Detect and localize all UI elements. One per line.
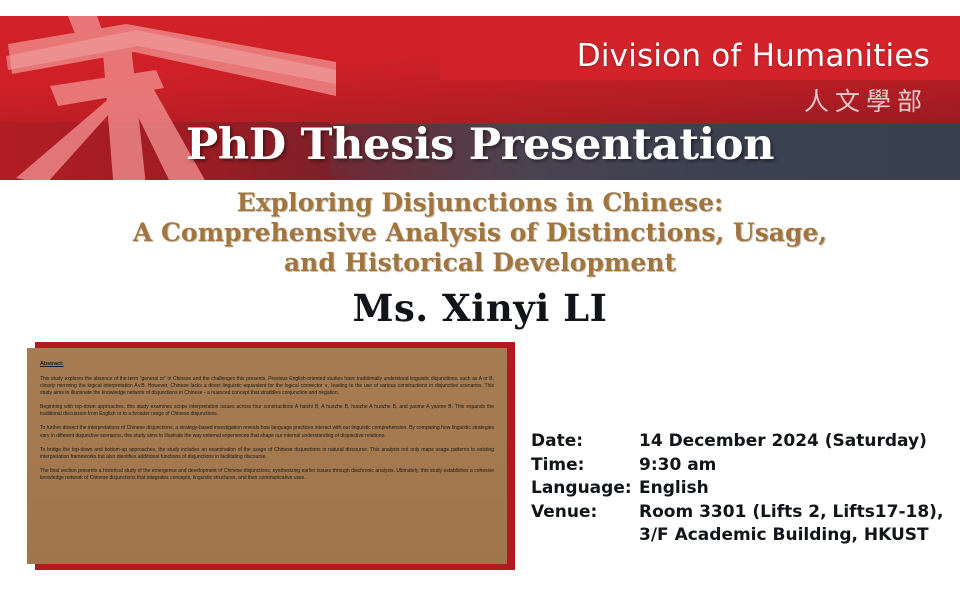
abstract-paragraph: To further dissect the interpretations o… bbox=[40, 425, 494, 439]
abstract-paragraph: This study explores the absence of the t… bbox=[40, 376, 494, 397]
page-title: PhD Thesis Presentation bbox=[0, 120, 960, 170]
detail-row-date: Date: 14 December 2024 (Saturday) bbox=[531, 430, 951, 454]
speaker-name: Ms. Xinyi LI bbox=[0, 286, 960, 330]
time-value: 9:30 am bbox=[639, 454, 951, 478]
presentation-poster: Division of Humanities 人文學部 PhD Thesis P… bbox=[0, 0, 960, 600]
abstract-paragraph: To bridge the top-down and bottom-up app… bbox=[40, 447, 494, 461]
detail-row-language: Language: English bbox=[531, 477, 951, 501]
abstract-panel-body: Abstract: This study explores the absenc… bbox=[27, 348, 507, 564]
time-label: Time: bbox=[531, 454, 639, 478]
abstract-panel: Abstract: This study explores the absenc… bbox=[27, 342, 515, 570]
division-title-chinese: 人文學部 bbox=[804, 82, 928, 118]
detail-row-venue: Venue: Room 3301 (Lifts 2, Lifts17-18), bbox=[531, 501, 951, 525]
thesis-subtitle-line2: A Comprehensive Analysis of Distinctions… bbox=[55, 218, 905, 248]
event-details: Date: 14 December 2024 (Saturday) Time: … bbox=[531, 430, 951, 548]
abstract-paragraph: The final section presents a historical … bbox=[40, 468, 494, 482]
detail-row-time: Time: 9:30 am bbox=[531, 454, 951, 478]
thesis-subtitle: Exploring Disjunctions in Chinese: A Com… bbox=[55, 188, 905, 278]
abstract-label: Abstract: bbox=[40, 360, 494, 368]
date-value: 14 December 2024 (Saturday) bbox=[639, 430, 951, 454]
language-label: Language: bbox=[531, 477, 639, 501]
venue-value-line2: 3/F Academic Building, HKUST bbox=[639, 524, 951, 548]
venue-value-line1: Room 3301 (Lifts 2, Lifts17-18), bbox=[639, 501, 951, 525]
thesis-subtitle-line3: and Historical Development bbox=[55, 248, 905, 278]
thesis-subtitle-line1: Exploring Disjunctions in Chinese: bbox=[55, 188, 905, 218]
top-white-strip bbox=[0, 0, 960, 16]
abstract-paragraph: Beginning with top-down approaches, this… bbox=[40, 404, 494, 418]
division-title: Division of Humanities bbox=[577, 38, 930, 74]
language-value: English bbox=[639, 477, 951, 501]
venue-label: Venue: bbox=[531, 501, 639, 525]
date-label: Date: bbox=[531, 430, 639, 454]
